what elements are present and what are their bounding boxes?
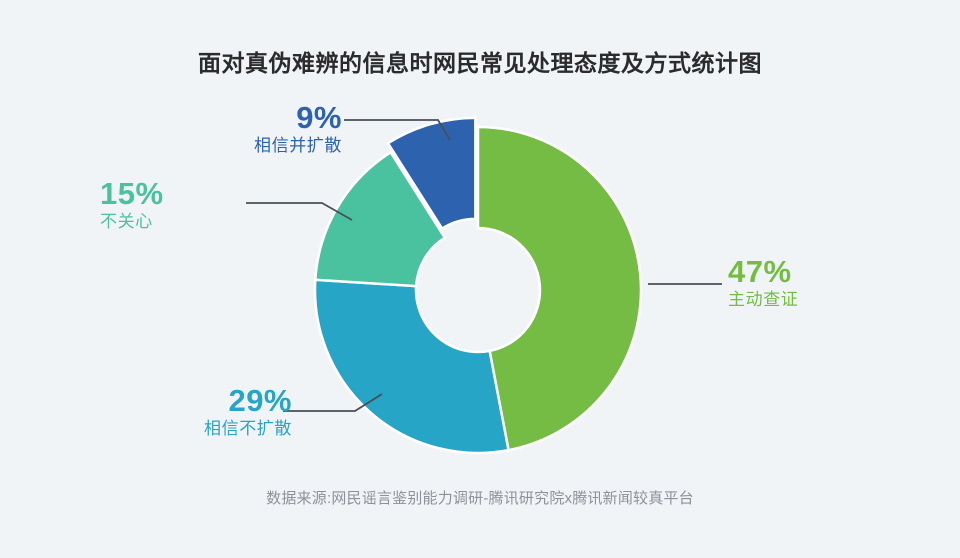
callout-dont-care: 15% 不关心 [100, 178, 292, 233]
callout-verify-label: 主动查证 [728, 289, 928, 312]
chart-source-note: 数据来源:网民谣言鉴别能力调研-腾讯研究院x腾讯新闻较真平台 [0, 487, 960, 508]
callout-believe-and-spread: 9% 相信并扩散 [150, 102, 342, 157]
chart-container: 面对真伪难辨的信息时网民常见处理态度及方式统计图 9% 相信并扩散 15% 不关… [0, 0, 960, 558]
callout-verify-value: 47% [728, 256, 928, 289]
callout-verify: 47% 主动查证 [728, 256, 928, 311]
callout-believe-and-spread-value: 9% [150, 102, 342, 135]
callout-dont-care-value: 15% [100, 178, 292, 211]
donut-slice-believe-no-spread[interactable] [315, 280, 509, 453]
callout-believe-and-spread-label: 相信并扩散 [150, 135, 342, 158]
callout-believe-no-spread: 29% 相信不扩散 [92, 385, 292, 440]
callout-believe-no-spread-label: 相信不扩散 [92, 418, 292, 441]
callout-dont-care-label: 不关心 [100, 211, 292, 234]
donut-slice-verify[interactable] [478, 127, 641, 450]
callout-believe-no-spread-value: 29% [92, 385, 292, 418]
